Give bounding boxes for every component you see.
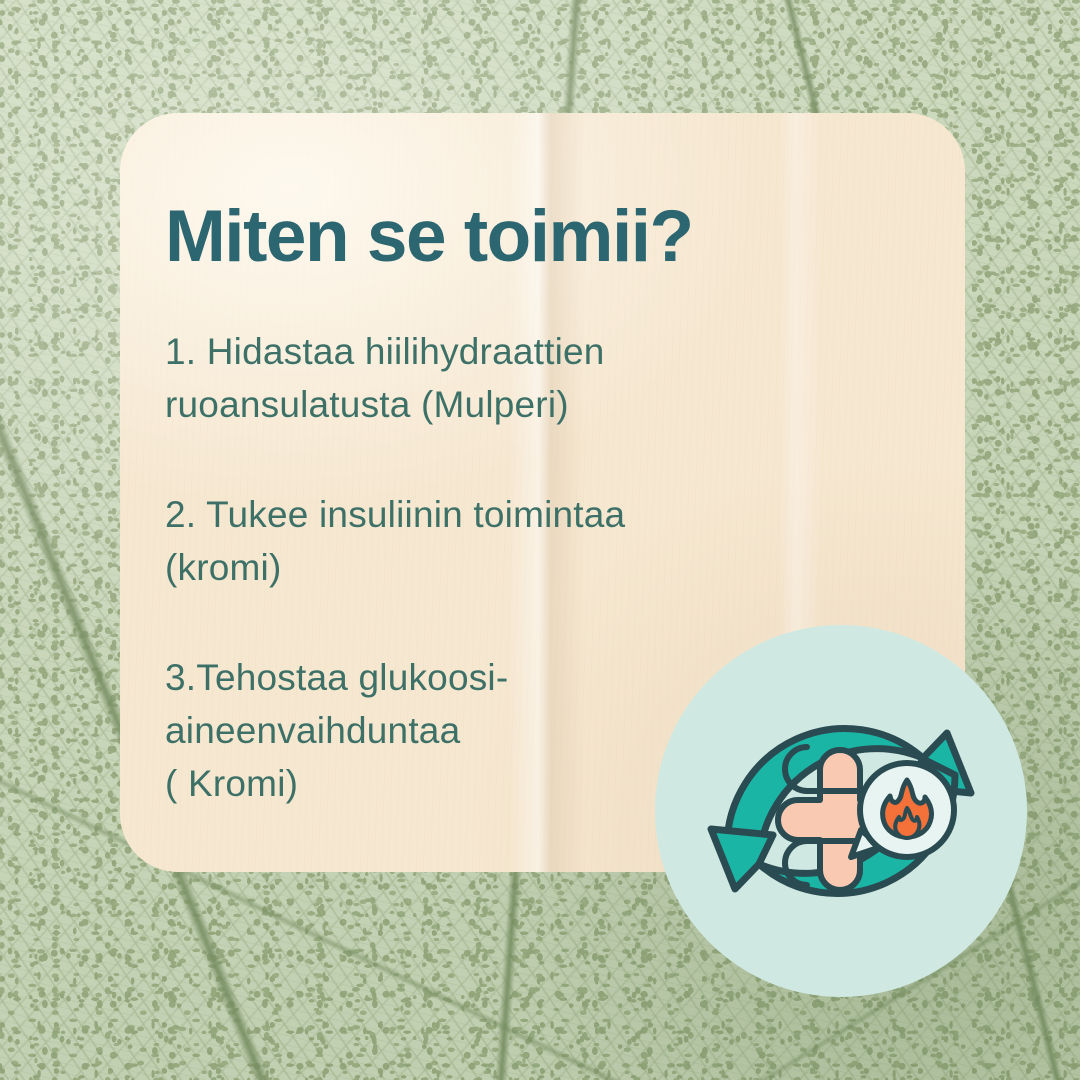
list-item-1-line-2: ruoansulatusta (Mulperi) <box>165 378 845 431</box>
list-item-1-line-1: 1. Hidastaa hiilihydraattien <box>165 325 845 378</box>
page-title: Miten se toimii? <box>165 195 693 278</box>
list-item-2-line-2: (kromi) <box>165 541 845 594</box>
metabolism-cycle-icon <box>655 625 1027 997</box>
poster-canvas: Miten se toimii? 1. Hidastaa hiilihydraa… <box>0 0 1080 1080</box>
list-item-2: 2. Tukee insuliinin toimintaa (kromi) <box>165 488 845 594</box>
list-item-2-line-1: 2. Tukee insuliinin toimintaa <box>165 488 845 541</box>
list-item-1: 1. Hidastaa hiilihydraattien ruoansulatu… <box>165 325 845 431</box>
